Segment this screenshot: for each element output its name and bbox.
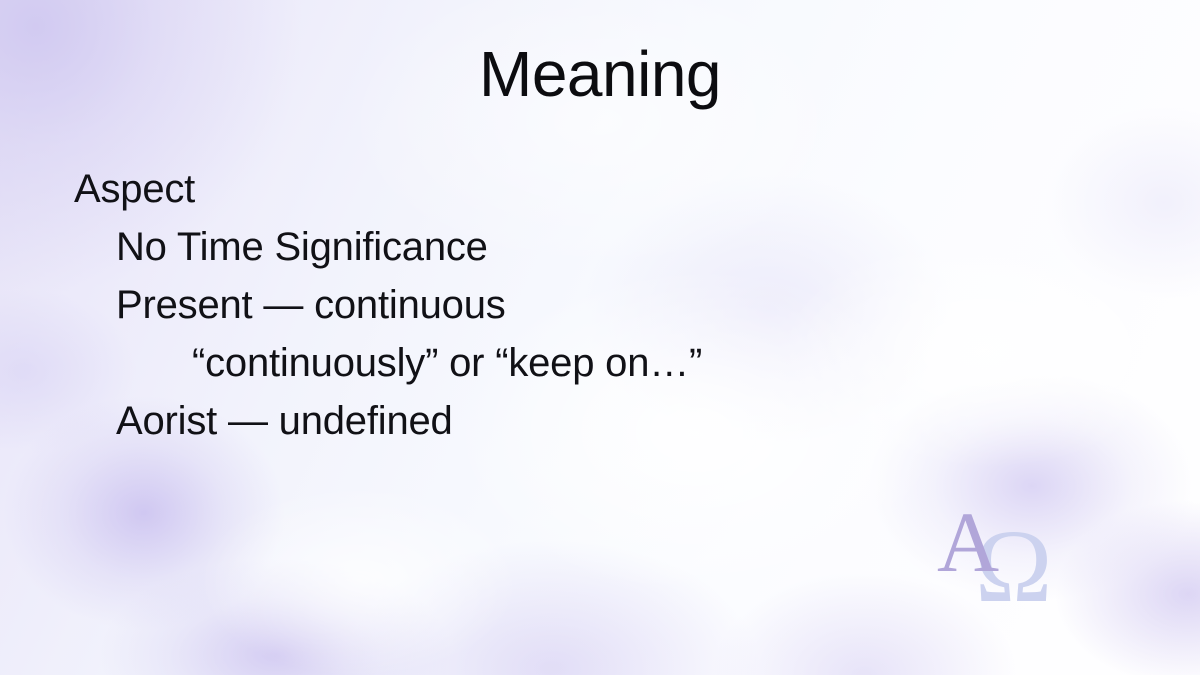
presentation-slide: Meaning Aspect No Time Significance Pres… xyxy=(0,0,1200,675)
body-line-present-continuous: Present — continuous xyxy=(0,276,1200,334)
alpha-glyph: Α xyxy=(937,495,999,590)
slide-body: Aspect No Time Significance Present — co… xyxy=(0,160,1200,450)
body-line-no-time-significance: No Time Significance xyxy=(0,218,1200,276)
alpha-omega-logo: Ω Α xyxy=(935,495,1065,610)
body-line-aspect: Aspect xyxy=(0,160,1200,218)
body-line-continuously-keep-on: “continuously” or “keep on…” xyxy=(0,334,1200,392)
slide-title: Meaning xyxy=(0,40,1200,109)
alpha-omega-icon: Ω Α xyxy=(935,495,1065,610)
body-line-aorist-undefined: Aorist — undefined xyxy=(0,392,1200,450)
